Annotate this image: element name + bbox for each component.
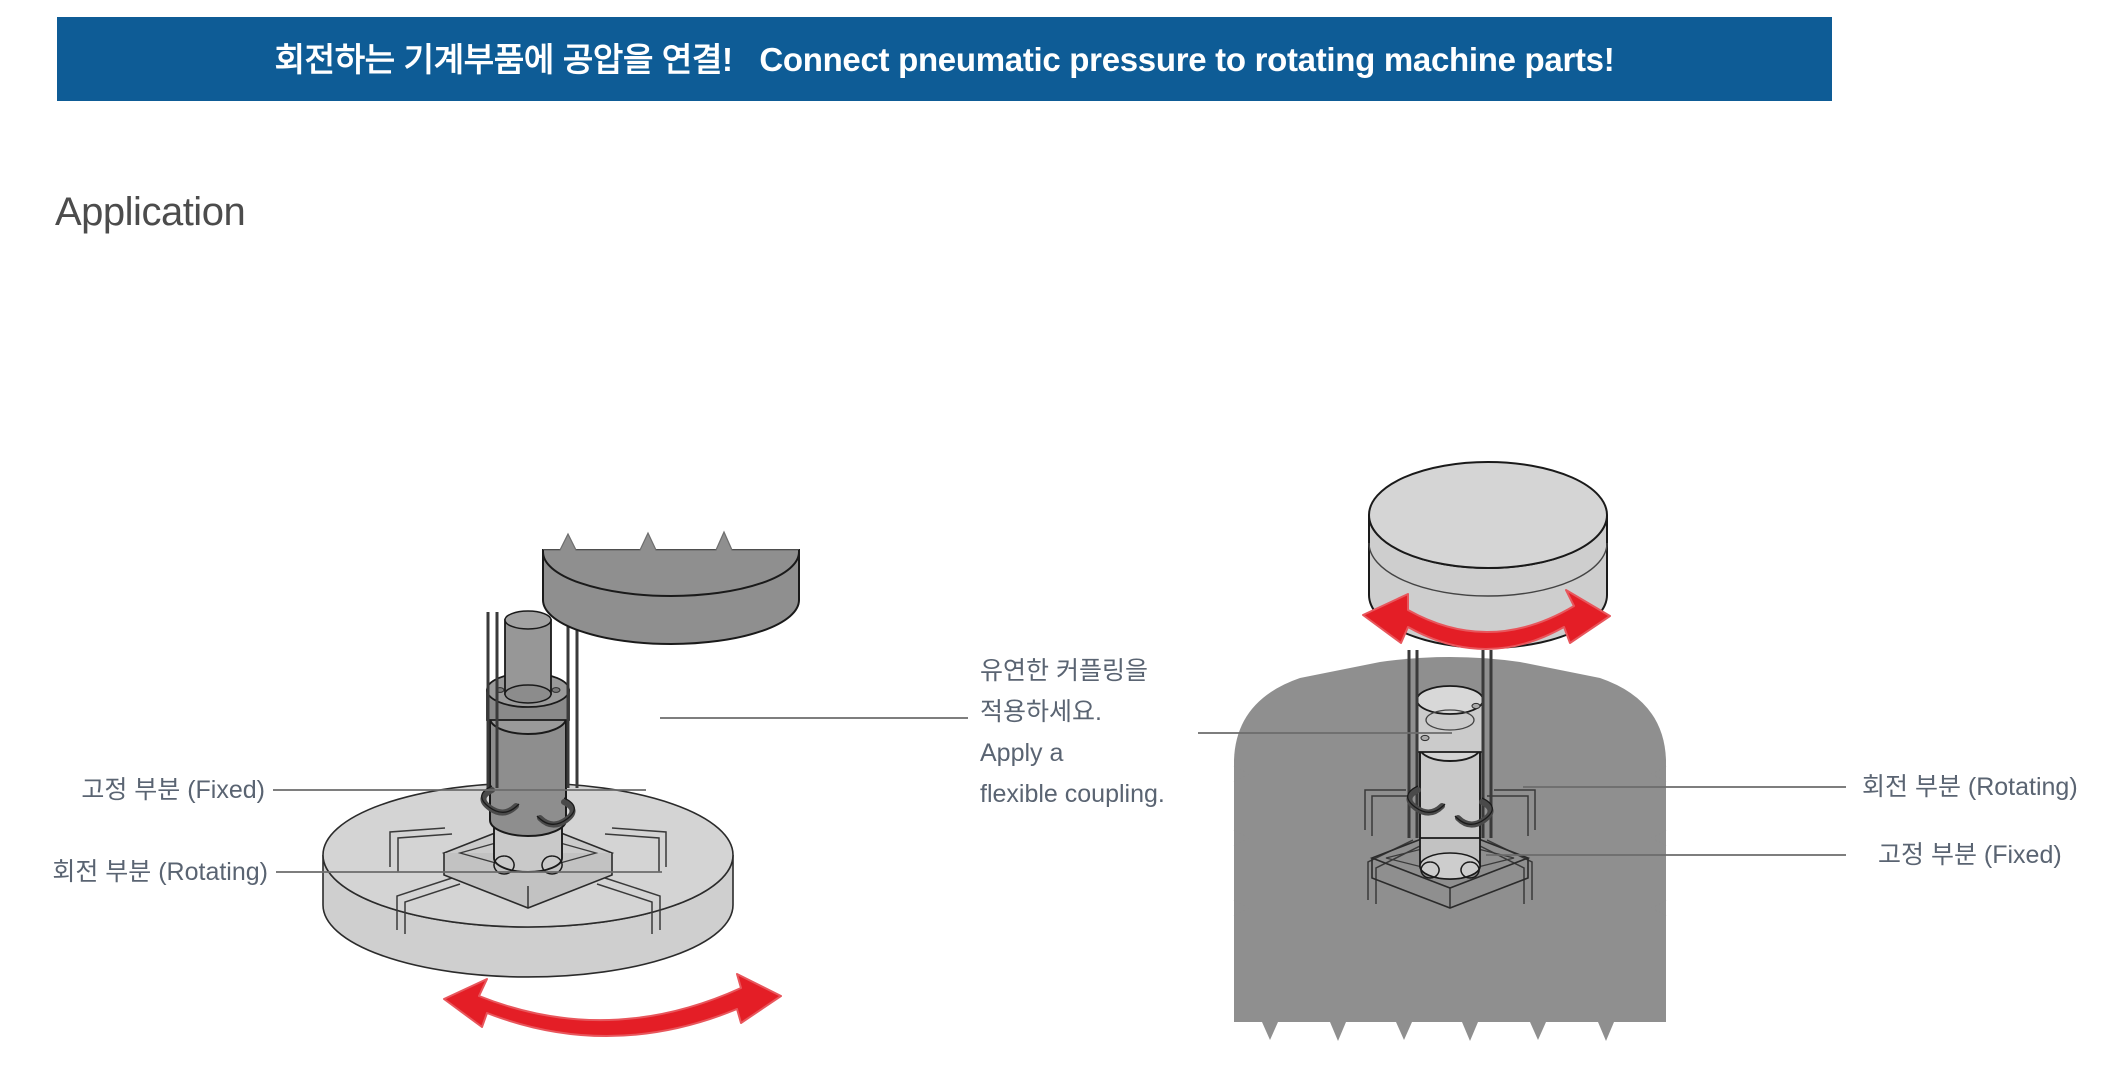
callout-line-1: 유연한 커플링을 <box>980 657 1148 685</box>
drive-shaft <box>505 611 551 703</box>
callout-line-2: 적용하세요. <box>980 698 1102 726</box>
application-diagram-canvas: 고정 부분 (Fixed) 회전 부분 (Rotating) 유연한 커플링을 … <box>0 0 2126 1084</box>
rotary-union-flange-right <box>1417 686 1483 752</box>
rotary-union-body <box>490 702 566 836</box>
label-right-rotating: 회전 부분 (Rotating) <box>1862 773 2078 801</box>
rotation-arrow-left <box>444 974 781 1036</box>
label-left-rotating: 회전 부분 (Rotating) <box>52 858 268 886</box>
callout-line-3: Apply a <box>980 739 1063 767</box>
label-right-fixed: 고정 부분 (Fixed) <box>1878 841 2062 869</box>
machine-drum <box>543 532 799 644</box>
right-figure <box>1234 462 1666 1041</box>
callout-line-4: flexible coupling. <box>980 780 1165 808</box>
label-left-fixed: 고정 부분 (Fixed) <box>81 776 265 804</box>
left-figure <box>323 532 799 1036</box>
rotary-union-skirt-right <box>1420 838 1480 879</box>
